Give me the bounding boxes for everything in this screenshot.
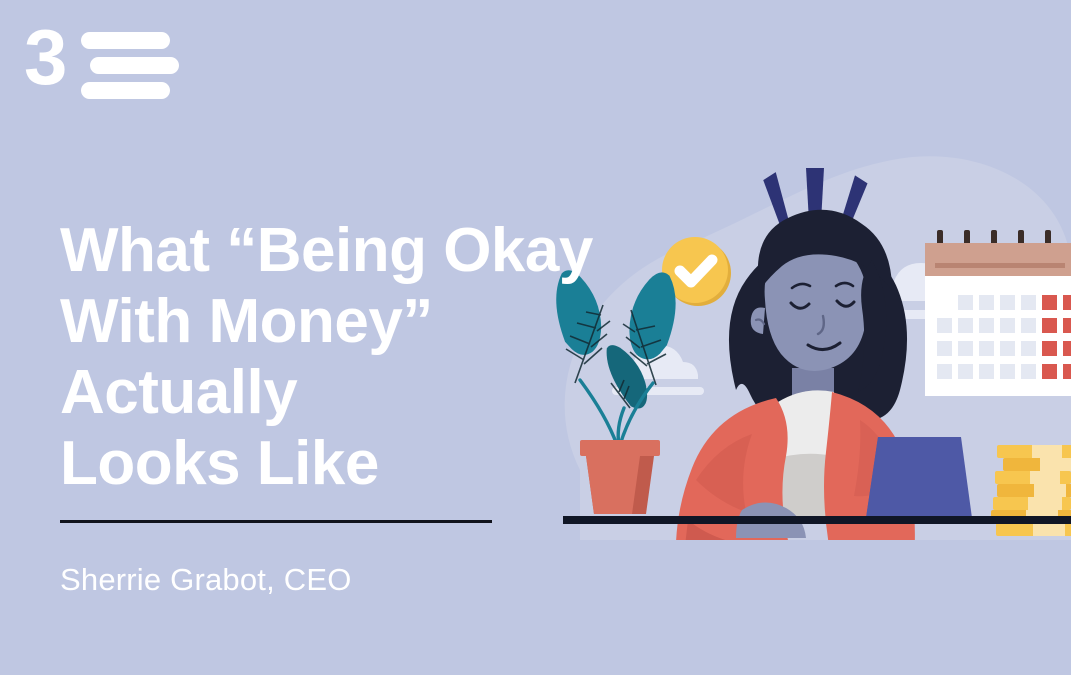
page-title: What “Being Okay With Money” Actually Lo… [60,215,660,499]
title-divider [60,520,492,523]
three-bars-logo[interactable]: 3 [24,22,194,96]
byline: Sherrie Grabot, CEO [60,562,660,598]
logo-bar-top [81,32,170,49]
text-column: What “Being Okay With Money” Actually Lo… [60,215,660,598]
logo-bar-middle [90,57,179,74]
logo-numeral: 3 [24,20,65,94]
logo-bar-bottom [81,82,170,99]
wall-calendar-icon [925,230,1071,396]
presentation-slide: 3 [0,0,1071,675]
